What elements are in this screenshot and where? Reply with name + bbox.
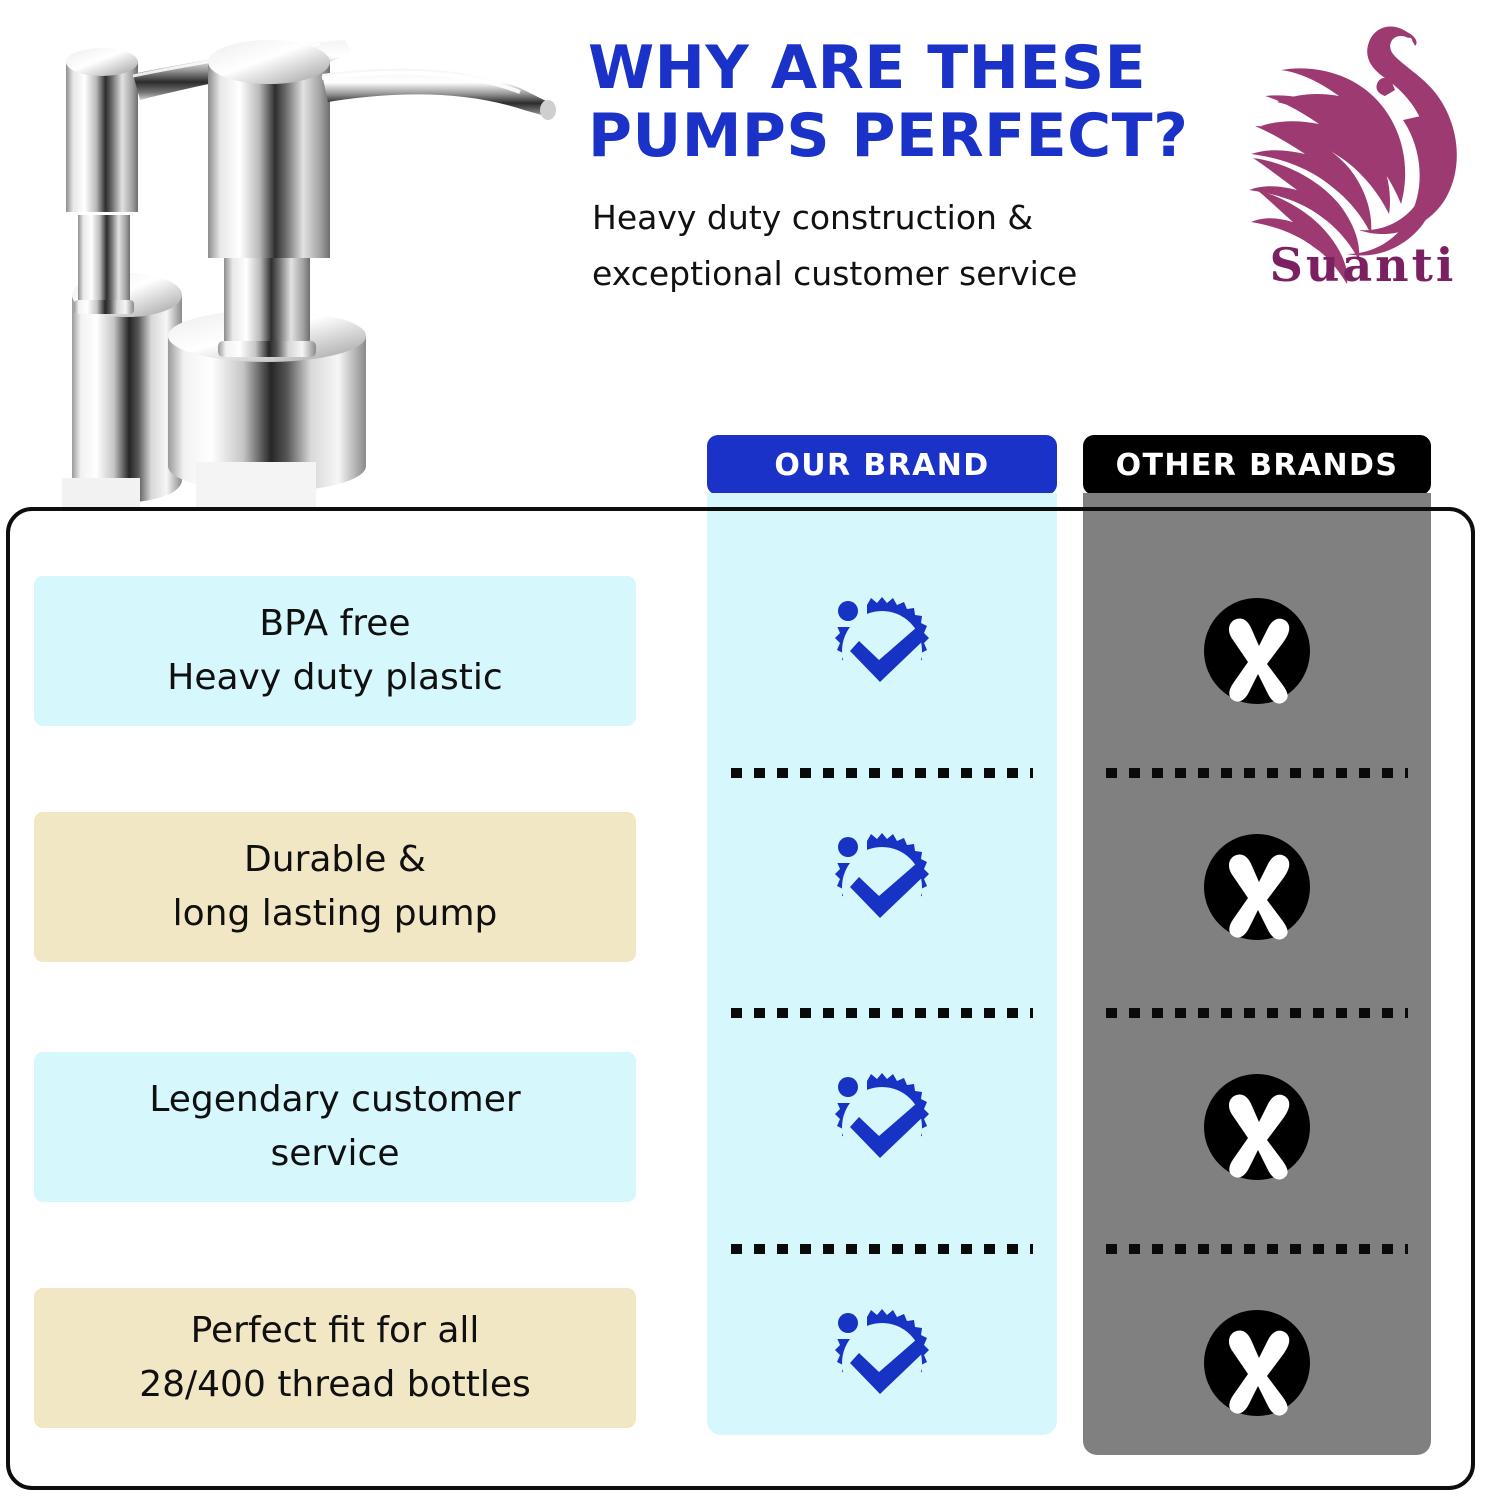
column-header-other-brands: OTHER BRANDS xyxy=(1083,435,1431,495)
x-circle-icon xyxy=(1177,1288,1337,1438)
row-separator xyxy=(731,768,1033,778)
row-separator xyxy=(1106,1008,1408,1018)
feature-label-line-1: Perfect fit for all xyxy=(191,1304,480,1358)
check-badge-icon xyxy=(802,1052,962,1202)
feature-label-box: Durable & long lasting pump xyxy=(34,812,636,962)
feature-label-line-1: Legendary customer xyxy=(149,1073,520,1127)
feature-label-box: Legendary customer service xyxy=(34,1052,636,1202)
check-badge-icon xyxy=(802,576,962,726)
infographic-root: WHY ARE THESE PUMPS PERFECT? Heavy duty … xyxy=(0,0,1489,1500)
page-subtitle: Heavy duty construction & exceptional cu… xyxy=(592,190,1272,302)
check-badge-icon xyxy=(802,1288,962,1438)
x-circle-icon xyxy=(1177,1052,1337,1202)
x-circle-icon xyxy=(1177,812,1337,962)
row-separator xyxy=(731,1008,1033,1018)
page-title-line-2: PUMPS PERFECT? xyxy=(588,102,1248,170)
row-separator xyxy=(1106,768,1408,778)
page-subtitle-line-1: Heavy duty construction & xyxy=(592,190,1272,246)
feature-label-line-2: 28/400 thread bottles xyxy=(139,1358,531,1412)
feature-label-line-1: BPA free xyxy=(259,597,410,651)
page-subtitle-line-2: exceptional customer service xyxy=(592,246,1272,302)
column-header-our-brand-label: OUR BRAND xyxy=(774,448,989,483)
brand-name: Suanti xyxy=(1243,238,1483,292)
check-badge-icon xyxy=(802,812,962,962)
feature-label-box: Perfect fit for all 28/400 thread bottle… xyxy=(34,1288,636,1428)
row-separator xyxy=(731,1244,1033,1254)
row-separator xyxy=(1106,1244,1408,1254)
x-circle-icon xyxy=(1177,576,1337,726)
page-title: WHY ARE THESE PUMPS PERFECT? xyxy=(588,34,1248,170)
column-header-our-brand: OUR BRAND xyxy=(707,435,1057,495)
page-title-line-1: WHY ARE THESE xyxy=(588,34,1248,102)
soap-dispenser-pumps-image xyxy=(0,0,560,510)
feature-label-line-1: Durable & xyxy=(244,833,426,887)
column-header-other-brands-label: OTHER BRANDS xyxy=(1116,448,1399,483)
feature-label-line-2: Heavy duty plastic xyxy=(167,651,502,705)
feature-label-box: BPA free Heavy duty plastic xyxy=(34,576,636,726)
feature-label-line-2: long lasting pump xyxy=(173,887,498,941)
feature-label-line-2: service xyxy=(271,1127,400,1181)
